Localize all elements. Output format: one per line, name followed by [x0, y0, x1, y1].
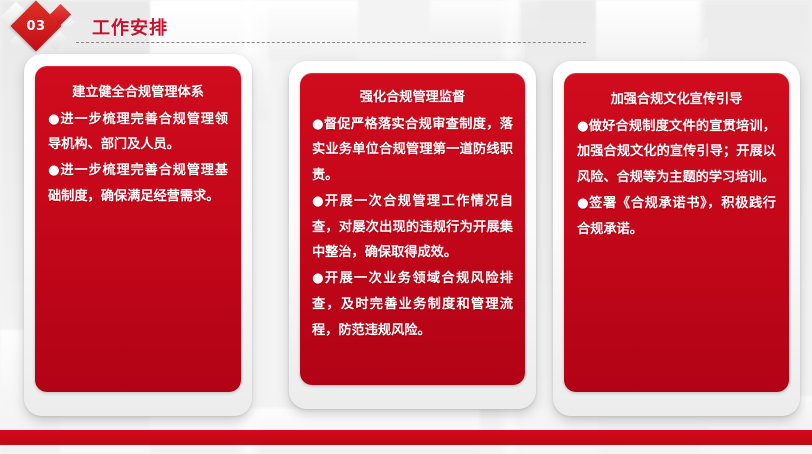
section-number: 03	[18, 8, 54, 44]
content-card-1[interactable]: 建立健全合规管理体系 ●进一步梳理完善合规管理领导机构、部门及人员。 ●进一步梳…	[24, 54, 252, 416]
content-card-1-panel: 建立健全合规管理体系 ●进一步梳理完善合规管理领导机构、部门及人员。 ●进一步梳…	[35, 66, 241, 392]
content-card-2-panel: 强化合规管理监督 ●督促严格落实合规审查制度，落实业务单位合规管理第一道防线职责…	[300, 73, 525, 385]
content-card-1-paragraph-2: ●进一步梳理完善合规管理基础制度，确保满足经营需求。	[48, 158, 228, 209]
header-divider	[76, 42, 586, 43]
content-card-1-body: 建立健全合规管理体系 ●进一步梳理完善合规管理领导机构、部门及人员。 ●进一步梳…	[48, 80, 228, 210]
page-title: 工作安排	[92, 14, 168, 40]
content-card-2-paragraph-1: ●督促严格落实合规审查制度，落实业务单位合规管理第一道防线职责。	[312, 112, 513, 189]
content-card-2-body: 强化合规管理监督 ●督促严格落实合规审查制度，落实业务单位合规管理第一道防线职责…	[312, 85, 513, 343]
content-card-2[interactable]: 强化合规管理监督 ●督促严格落实合规审查制度，落实业务单位合规管理第一道防线职责…	[289, 61, 536, 409]
content-card-3-paragraph-1: ●做好合规制度文件的宣贯培训，加强合规文化的宣传引导；开展以风险、合规等为主题的…	[577, 114, 776, 191]
content-card-3-paragraph-2: ●签署《合规承诺书》，积极践行合规承诺。	[577, 191, 776, 242]
content-card-3-panel: 加强合规文化宣传引导 ●做好合规制度文件的宣贯培训，加强合规文化的宣传引导；开展…	[564, 73, 789, 392]
content-card-3-body: 加强合规文化宣传引导 ●做好合规制度文件的宣贯培训，加强合规文化的宣传引导；开展…	[577, 87, 776, 242]
content-card-3-title: 加强合规文化宣传引导	[577, 87, 776, 113]
content-card-2-paragraph-3: ●开展一次业务领域合规风险排查，及时完善业务制度和管理流程，防范违规风险。	[312, 266, 513, 343]
content-card-1-paragraph-1: ●进一步梳理完善合规管理领导机构、部门及人员。	[48, 107, 228, 158]
content-card-2-title: 强化合规管理监督	[312, 85, 513, 111]
slide-header: 03 工作安排	[0, 0, 812, 60]
content-card-1-title: 建立健全合规管理体系	[48, 80, 228, 106]
footer-accent-bar	[0, 430, 812, 445]
content-card-2-paragraph-2: ●开展一次合规管理工作情况自查，对屡次出现的违规行为开展集中整治，确保取得成效。	[312, 189, 513, 266]
content-card-3[interactable]: 加强合规文化宣传引导 ●做好合规制度文件的宣贯培训，加强合规文化的宣传引导；开展…	[553, 61, 800, 416]
